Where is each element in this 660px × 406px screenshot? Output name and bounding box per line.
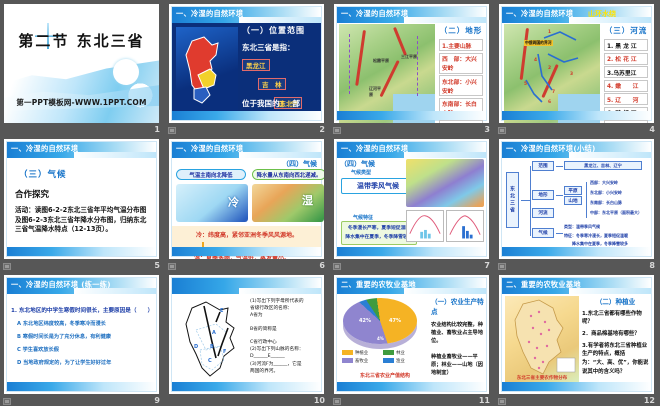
mindmap-terrain-mountain: 山地 <box>564 196 582 205</box>
pie-label-zhongzhiye: 47% <box>389 318 401 324</box>
river-map-image: 1 2 3 4 5 6 7 中俄两国的界河 中朝两国界河 <box>504 24 600 123</box>
paragraph-1: 农业结构比较完整，种植业、畜牧业占主导地位。 <box>431 321 484 345</box>
slide-thumbnail-5[interactable]: 一、冷湿的自然环境 （三）气候 合作探究 活动：读图6-2-2东北三省年平均气温… <box>4 139 159 258</box>
explanation-band: 冷：纬度高，紧邻亚洲冬季风风源地。 湿：夏季多雨，气温低，蒸发量小。 <box>172 226 321 246</box>
slide-thumbnail-10[interactable]: A B C D E F (1)写出下列字母所代表的 省级行政区的名称： A省为 <box>169 275 324 394</box>
mindmap-terrain-item: 东南部：长白山脉 <box>590 200 622 206</box>
slide-cell-9[interactable]: 一、冷湿的自然环境 (练一练) 1. 东北地区的中学生寒假时间很长，主要原因是（… <box>0 271 165 406</box>
slide-cell-10[interactable]: A B C D E F (1)写出下列字母所代表的 省级行政区的名称： A省为 <box>165 271 330 406</box>
terrain-list: （二）地形 1.主要山脉 西 部：大兴安岭 东北部：小兴安岭 东南部：长白山脉 … <box>437 23 485 111</box>
section-heading: （三）气候 <box>19 168 156 180</box>
slide-cell-11[interactable]: 二、重要的农牧业基地 47% 42% 4% 种植业 林业 畜牧业 <box>330 271 495 406</box>
river-number-3: 3 <box>570 72 573 77</box>
legend-swatch <box>342 358 353 363</box>
slide-header-bar <box>172 278 321 294</box>
quiz-line: 省级行政区的名称： <box>250 305 319 312</box>
slide-thumbnail-grid: 第二节 东北三省 第一PPT模板网-WWW.1PPT.COM 1 一、冷湿的自然… <box>0 0 660 406</box>
terrain-item: 2.平原 <box>439 120 483 123</box>
activity-paragraph: 活动：读图6-2-2东北三省年平均气温分布图及图6-2-3东北三省年降水分布图，… <box>15 206 150 235</box>
river-item: 4. 嫩 江 <box>604 80 648 92</box>
page-number: 9 <box>154 396 160 405</box>
page-number: 11 <box>479 396 490 405</box>
slide-cell-2[interactable]: 一、冷湿的自然环境 （一）位置范围 东北三省是指： <box>165 0 330 135</box>
border-line <box>417 36 418 96</box>
legend-swatch <box>342 350 353 355</box>
legend-label: 畜牧业 <box>355 358 368 364</box>
river-lines-svg <box>504 24 600 123</box>
legend-item: 种植业 <box>342 350 380 356</box>
slide-header-bar: 二、重要的农牧业基地 <box>337 278 486 294</box>
mindmap-terrain-item: 中部：东北平原（面积最大） <box>590 210 654 215</box>
slide-thumbnail-7[interactable]: 一、冷湿的自然环境 （四）气候 气候类型 温带季风气候 气候特征 冬季漫长严寒，… <box>334 139 489 258</box>
label-climate-feature: 气候特征 <box>353 214 373 221</box>
slide-footer-bar <box>502 247 651 256</box>
file-icon <box>333 263 341 270</box>
slide-footer-bar <box>172 111 321 120</box>
mindmap-climate-item: 特征：冬季寒冷漫长，夏季短促温暖 <box>564 233 628 239</box>
page-number: 1 <box>154 125 160 134</box>
page-number: 10 <box>314 396 325 405</box>
slide-cell-5[interactable]: 一、冷湿的自然环境 （三）气候 合作探究 活动：读图6-2-2东北三省年平均气温… <box>0 135 165 270</box>
outline-map-svg: A B C D E F <box>176 298 248 382</box>
terrain-map-image: 松嫩平原 三江平原 辽河平原 <box>339 24 435 123</box>
river-number-2: 2 <box>548 66 551 71</box>
slide-header-bar: 一、冷湿的自然环境(小结) <box>502 142 651 158</box>
slide-cell-6[interactable]: 一、冷湿的自然环境 （四）气候 气温主南向北降低 降水量从东南向西北递减。 冷 … <box>165 135 330 270</box>
slide2-text-column: （一）位置范围 东北三省是指： 黑龙江 吉 林 辽 宁 <box>242 25 319 110</box>
mindmap-terrain-plain: 平原 <box>564 186 582 195</box>
slide-cell-4[interactable]: 一、冷湿的自然环境 山环水绕 <box>495 0 660 135</box>
header-subtitle: 山环水绕 <box>588 9 616 19</box>
file-icon <box>498 398 506 405</box>
circle-decoration <box>113 59 139 85</box>
slide-header-bar: 二、重要的农牧业基地 <box>502 278 651 294</box>
question-2: 2．商品棉基地有哪些？ <box>582 330 649 339</box>
map-label-sanjiang: 三江平原 <box>401 54 417 60</box>
slide-cell-8[interactable]: 一、冷湿的自然环境(小结) 东北三省 范围 地形 河流 气候 黑龙江、吉林、辽宁… <box>495 135 660 270</box>
location-sentence: 位于我国的东北部 <box>242 98 300 109</box>
legend-item: 畜牧业 <box>342 358 380 364</box>
file-icon <box>333 398 341 405</box>
crop-distribution-map-image <box>505 296 579 384</box>
file-icon <box>168 127 176 134</box>
svg-text:E: E <box>220 308 224 314</box>
watermark-text: 第一PPT模板网-WWW.1PPT.COM <box>4 97 159 108</box>
river-number-7: 7 <box>552 90 555 95</box>
slide-thumbnail-3[interactable]: 一、冷湿的自然环境 松嫩平原 三江平原 辽河平原 <box>334 4 489 123</box>
terrain-item: 1.主要山脉 <box>439 39 483 51</box>
quiz-line: (2)写出下列山脉的名称： <box>250 346 319 353</box>
slide-thumbnail-12[interactable]: 二、重要的农牧业基地 <box>499 275 654 394</box>
header-title: 二、重要的农牧业基地 <box>506 280 581 290</box>
header-title: 一、冷湿的自然环境(小结) <box>506 144 596 154</box>
climate-graph-svg <box>407 211 443 241</box>
slide-footer-bar <box>172 247 321 256</box>
svg-text:F: F <box>223 349 226 355</box>
slide-thumbnail-9[interactable]: 一、冷湿的自然环境 (练一练) 1. 东北地区的中学生寒假时间很长，主要原因是（… <box>4 275 159 394</box>
slide-footer-bar <box>337 111 486 120</box>
mindmap-terrain-item: 东北部：小兴安岭 <box>590 190 622 196</box>
slide12-text-column: （二）种植业 1.东北三省都有哪些作物呢？ 2．商品棉基地有哪些？ 3.有学者将… <box>582 296 649 379</box>
section-heading: （二）种植业 <box>582 296 649 306</box>
section-heading: （一）农业生产特点 <box>431 296 484 316</box>
legend-swatch <box>383 350 394 355</box>
slide-cell-3[interactable]: 一、冷湿的自然环境 松嫩平原 三江平原 辽河平原 <box>330 0 495 135</box>
river-number-6: 6 <box>548 100 551 105</box>
file-icon <box>3 263 11 270</box>
page-number: 6 <box>319 261 325 270</box>
slide-header-bar: 一、冷湿的自然环境 <box>337 142 486 158</box>
slide-header-bar: 一、冷湿的自然环境 <box>172 142 321 158</box>
terrain-item: 东北部：小兴安岭 <box>439 75 483 96</box>
mountain-range-marker <box>379 60 399 97</box>
province-name-1: 黑龙江 <box>242 59 270 71</box>
page-number: 12 <box>644 396 655 405</box>
river-item: 1. 黑 龙 江 <box>604 39 648 51</box>
callout-precipitation: 降水量从东南向西北递减。 <box>252 169 324 180</box>
header-title: 一、冷湿的自然环境 <box>176 144 243 154</box>
map-caption: 东北三省主要农作物分布 <box>505 375 579 381</box>
legend-swatch <box>383 358 394 363</box>
mountain-range-marker <box>393 27 407 56</box>
sub-heading: 合作探究 <box>15 188 156 200</box>
mindmap-connector <box>556 195 563 196</box>
quiz-line: A省为 <box>250 312 319 319</box>
slide-header-bar: 一、冷湿的自然环境 (练一练) <box>7 278 156 294</box>
mindmap-branch-river: 河流 <box>532 208 554 218</box>
river-list: （三）河流 1. 黑 龙 江 2. 松 花 江 3.乌苏里江 4. 嫩 江 5.… <box>602 23 650 111</box>
question-1: 1.东北三省都有哪些作物呢？ <box>582 310 649 327</box>
slide-footer-bar <box>7 382 156 391</box>
quiz-line: 两国的界河。 <box>250 368 319 375</box>
slide-header-bar: 一、冷湿的自然环境 <box>337 7 486 23</box>
file-icon <box>168 263 176 270</box>
quiz-line: B省的简称是 <box>250 326 319 333</box>
slide-thumbnail-6[interactable]: 一、冷湿的自然环境 （四）气候 气温主南向北降低 降水量从东南向西北递减。 冷 … <box>169 139 324 258</box>
river-item: 2. 松 花 江 <box>604 53 648 65</box>
header-title: 一、冷湿的自然环境 <box>176 9 243 19</box>
legend-label: 种植业 <box>355 350 368 356</box>
header-title: 二、重要的农牧业基地 <box>341 280 416 290</box>
pie-label-xumuye: 42% <box>359 318 371 324</box>
precipitation-map-image <box>252 184 324 222</box>
map-quiz-text: (1)写出下列字母所代表的 省级行政区的名称： A省为 B省的简称是 C省行政中… <box>250 298 319 376</box>
legend-label: 林业 <box>396 350 405 356</box>
river-item: 7. 图 们 江 <box>604 120 648 123</box>
svg-text:A: A <box>212 330 216 336</box>
quiz-option-b[interactable]: B 寒假时间长是为了充分休息，有利健康 <box>17 333 152 340</box>
svg-text:D: D <box>194 344 198 350</box>
map-note-1: 中俄两国的界河 <box>524 40 553 46</box>
intro-line: 东北三省是指： <box>242 42 319 53</box>
section-heading: （四）气候 <box>282 159 317 169</box>
mountain-range-marker <box>355 30 366 86</box>
section-heading: （四）气候 <box>340 159 375 169</box>
note-cold: 冷：纬度高，紧邻亚洲冬季风风源地。 <box>196 230 321 239</box>
quiz-line: (1)写出下列字母所代表的 <box>250 298 319 305</box>
header-title: 一、冷湿的自然环境 <box>341 144 408 154</box>
location-emphasis: 东北 <box>280 100 293 108</box>
climate-type-value: 温带季风气候 <box>341 178 415 194</box>
pie-legend: 种植业 林业 畜牧业 渔业 <box>342 350 426 364</box>
page-number: 7 <box>484 261 490 270</box>
mindmap-root: 东北三省 <box>506 172 519 228</box>
label-climate-type: 气候类型 <box>351 169 371 176</box>
map-label-songnen: 松嫩平原 <box>373 58 389 64</box>
quiz-option-d[interactable]: D 当地政府规定的，为了让学生好好过年 <box>17 359 152 366</box>
section-heading: （二）地形 <box>437 25 485 36</box>
file-icon <box>498 263 506 270</box>
slide-footer-bar <box>337 382 486 391</box>
mindmap-branch-climate: 气候 <box>532 228 554 238</box>
quiz-line: C省行政中心 <box>250 339 319 346</box>
question-3: 3.有学者将东北三省种植业生产的特点，概括为：“大、高、优”，你能说说其中的含义… <box>582 342 649 377</box>
northeast-map-svg <box>182 35 226 105</box>
quiz-line: (3)河流F为______，它是 <box>250 361 319 368</box>
slide-cell-7[interactable]: 一、冷湿的自然环境 （四）气候 气候类型 温带季风气候 气候特征 冬季漫长严寒，… <box>330 135 495 270</box>
page-number: 3 <box>484 125 490 134</box>
slide-cell-1[interactable]: 第二节 东北三省 第一PPT模板网-WWW.1PPT.COM 1 <box>0 0 165 135</box>
slide-footer-bar <box>502 382 651 391</box>
pie-label-yuye: 4% <box>377 336 384 341</box>
mindmap-connector <box>521 200 530 201</box>
svg-text:C: C <box>208 358 212 364</box>
slide-thumbnail-4[interactable]: 一、冷湿的自然环境 山环水绕 <box>499 4 654 123</box>
river-number-5: 5 <box>524 82 527 87</box>
province-name-2: 吉 林 <box>258 78 286 90</box>
river-number-4: 4 <box>534 58 537 63</box>
border-line <box>349 34 350 94</box>
svg-text:B: B <box>210 344 214 350</box>
slide-header-bar: 一、冷湿的自然环境 山环水绕 <box>502 7 651 23</box>
terrain-item: 西 部：大兴安岭 <box>439 53 483 74</box>
location-prefix: 位于我国的 <box>242 99 280 108</box>
section-heading: （三）河流 <box>602 25 650 36</box>
mindmap-climate-item: 类型：温带季风气候 <box>564 224 600 230</box>
slide-header-bar: 一、冷湿的自然环境 <box>172 7 321 23</box>
page-number: 5 <box>154 261 160 270</box>
file-icon <box>333 127 341 134</box>
climate-graph-svg <box>447 211 483 241</box>
mindmap-connector <box>556 166 563 167</box>
quiz-question: 1. 东北地区的中学生寒假时间很长，主要原因是（ ） <box>11 306 152 314</box>
slide-thumbnail-11[interactable]: 二、重要的农牧业基地 47% 42% 4% 种植业 林业 畜牧业 <box>334 275 489 394</box>
legend-label: 渔业 <box>396 358 405 364</box>
legend-item: 林业 <box>383 350 421 356</box>
china-map-image <box>176 27 238 113</box>
page-number: 2 <box>319 125 325 134</box>
big-char-wet: 湿 <box>302 192 313 208</box>
river-item: 5. 辽 河 <box>604 93 648 105</box>
file-icon <box>498 127 506 134</box>
quiz-option-c[interactable]: C 学生喜欢放长假 <box>17 346 152 353</box>
slide-footer-bar <box>502 111 651 120</box>
mindmap-terrain-item: 西部：大兴安岭 <box>590 180 618 186</box>
chart-title: 东北三省农业产值结构 <box>341 372 429 379</box>
big-char-cold: 冷 <box>228 194 239 210</box>
paragraph-2: 种植业畜牧业——平原；林业——山地（因地制宜） <box>431 353 484 377</box>
slide-cell-12[interactable]: 二、重要的农牧业基地 <box>495 271 660 406</box>
slide-footer-bar <box>172 382 321 391</box>
header-title: 一、冷湿的自然环境 <box>11 144 78 154</box>
river-item: 3.乌苏里江 <box>604 66 648 78</box>
slide-thumbnail-1[interactable]: 第二节 东北三省 第一PPT模板网-WWW.1PPT.COM <box>4 4 159 123</box>
mindmap-branch-terrain: 地形 <box>532 190 554 200</box>
climate-graph-1 <box>406 210 444 242</box>
feature-line-1: 冬季漫长严寒，夏季短促温暖 <box>345 225 413 234</box>
page-number: 4 <box>649 125 655 134</box>
location-suffix: 部 <box>293 99 301 108</box>
quiz-line: D______E______ <box>250 353 319 360</box>
map-label-liaohe: 辽河平原 <box>369 86 381 98</box>
legend-item: 渔业 <box>383 358 421 364</box>
header-title: 一、冷湿的自然环境 <box>341 9 408 19</box>
page-number: 8 <box>649 261 655 270</box>
river-number-1: 1 <box>548 30 551 35</box>
header-title: 一、冷湿的自然环境 (练一练) <box>11 280 111 290</box>
callout-temperature: 气温主南向北降低 <box>176 169 246 180</box>
header-title: 一、冷湿的自然环境 <box>506 9 573 19</box>
file-icon <box>3 398 11 405</box>
china-climate-map-image <box>406 159 484 207</box>
quiz-option-a[interactable]: A 东北地区纬度较高，冬季寒冷而漫长 <box>17 320 152 327</box>
mindmap-connector <box>530 166 531 236</box>
climate-graph-2 <box>446 210 484 242</box>
mindmap-branch-range: 范围 <box>532 161 554 171</box>
crop-map-svg <box>505 296 579 384</box>
mindmap-connector <box>556 233 563 234</box>
slide-footer-bar <box>7 247 156 256</box>
feature-line-2: 降水集中在夏季，冬季降雪较多 <box>345 234 413 243</box>
slide-thumbnail-2[interactable]: 一、冷湿的自然环境 （一）位置范围 东北三省是指： <box>169 4 324 123</box>
slide-title: 第二节 东北三省 <box>4 30 159 51</box>
slide11-text-column: （一）农业生产特点 农业结构比较完整，种植业、畜牧业占主导地位。 种植业畜牧业—… <box>431 296 484 385</box>
slide-footer-bar <box>337 247 486 256</box>
section-heading: （一）位置范围 <box>242 25 319 36</box>
pie-chart: 47% 42% 4% <box>343 298 417 344</box>
slide-header-bar: 一、冷湿的自然环境 <box>7 142 156 158</box>
mindmap-connector <box>586 182 587 218</box>
mindmap-range-value: 黑龙江、吉林、辽宁 <box>564 161 642 170</box>
slide-thumbnail-8[interactable]: 一、冷湿的自然环境(小结) 东北三省 范围 地形 河流 气候 黑龙江、吉林、辽宁… <box>499 139 654 258</box>
